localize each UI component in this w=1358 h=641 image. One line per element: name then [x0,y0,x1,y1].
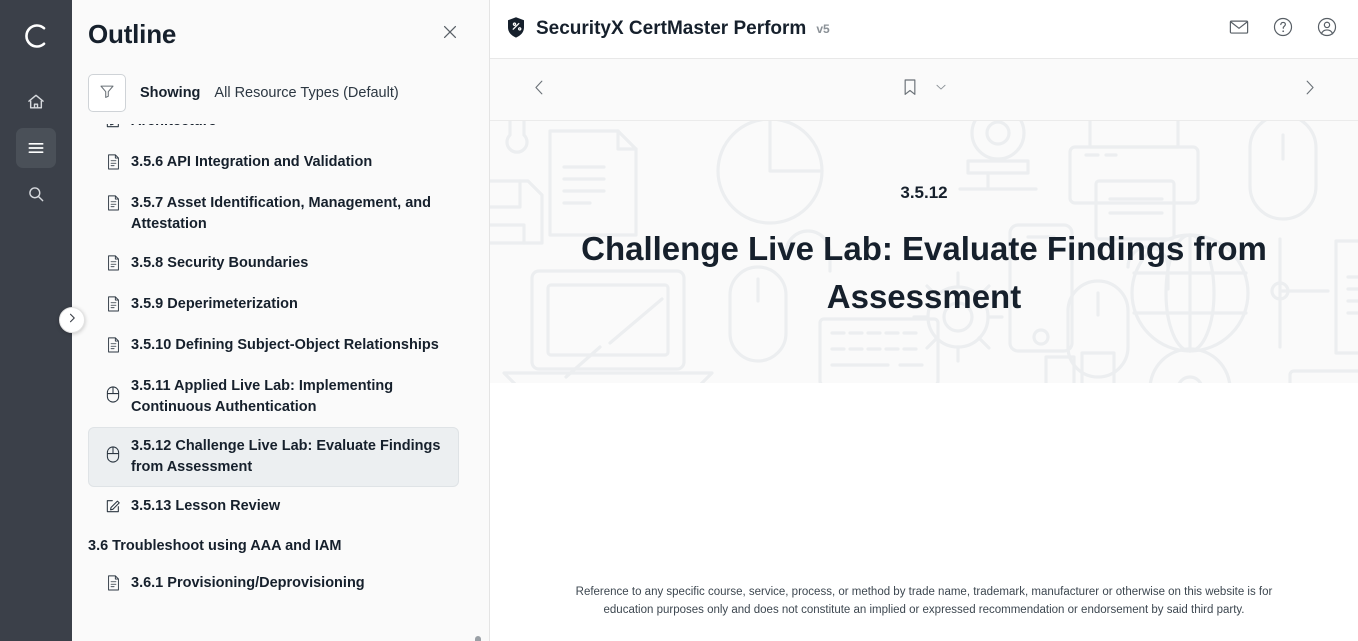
lesson-number: 3.5.12 [544,183,1304,203]
brand-version-badge: v5 [816,22,829,36]
outline-item-icon [105,496,121,519]
chevron-right-icon [66,311,78,329]
mail-button[interactable] [1226,16,1252,42]
filter-icon [98,82,116,105]
outline-item-icon [105,294,121,317]
outline-item-label: 3.5.11 Applied Live Lab: Implementing Co… [131,376,448,418]
outline-item[interactable]: 3.5.8 Security Boundaries [88,244,459,285]
document-icon [106,296,121,317]
outline-item-icon [105,335,121,358]
hero-text: 3.5.12 Challenge Live Lab: Evaluate Find… [498,183,1350,321]
outline-item-icon [105,386,121,408]
outline-item-label: Architecture [131,124,216,132]
help-circle-icon [1272,16,1294,43]
outline-item[interactable]: 3.6.1 Provisioning/Deprovisioning [88,564,459,605]
outline-item-label: 3.5.10 Defining Subject-Object Relations… [131,335,439,356]
rail-item-outline[interactable] [16,128,56,168]
outline-item[interactable]: Architecture [88,124,459,143]
outline-item-icon [105,446,121,468]
rail-icon-list [16,82,56,214]
outline-scrollbar-track[interactable] [475,230,481,641]
outline-item[interactable]: 3.5.6 API Integration and Validation [88,143,459,184]
document-icon [106,337,121,358]
rail-item-search[interactable] [16,174,56,214]
document-icon [106,154,121,175]
filter-button[interactable] [88,74,126,112]
bookmark-menu-button[interactable] [934,80,948,99]
account-icon [1316,16,1338,43]
outline-panel: Outline Showing All Resource Types (Defa… [72,0,490,641]
top-bar: SecurityX CertMaster Perform v5 [490,0,1358,59]
outline-group-header[interactable]: 3.6 Troubleshoot using AAA and IAM [88,528,459,564]
outline-item-label: 3.6.1 Provisioning/Deprovisioning [131,573,365,594]
outline-item[interactable]: 3.5.9 Deperimeterization [88,285,459,326]
outline-item-icon [105,573,121,596]
brand: SecurityX CertMaster Perform v5 [506,16,830,43]
content-navbar [490,59,1358,121]
outline-list: Architecture3.5.6 API Integration and Va… [72,124,489,641]
app-root: Outline Showing All Resource Types (Defa… [0,0,1358,641]
outline-item-icon [105,253,121,276]
document-icon [106,255,121,276]
main-area: SecurityX CertMaster Perform v5 [490,0,1358,641]
outline-item-label: 3.5.7 Asset Identification, Management, … [131,193,448,235]
mouse-icon [106,446,120,468]
previous-page-button[interactable] [524,75,554,105]
disclaimer-text: Reference to any specific course, servic… [554,583,1294,619]
outline-item-label: 3.5.9 Deperimeterization [131,294,298,315]
outline-item[interactable]: 3.5.11 Applied Live Lab: Implementing Co… [88,367,459,427]
chevron-down-icon [934,81,948,98]
outline-item[interactable]: 3.5.13 Lesson Review [88,487,459,528]
sidebar-expand-toggle[interactable] [59,307,85,333]
brand-name: SecurityX CertMaster Perform [536,18,806,40]
rail-item-home[interactable] [16,82,56,122]
home-icon [26,92,46,112]
close-icon [440,22,460,47]
outline-item-icon [105,152,121,175]
outline-item-selected[interactable]: 3.5.12 Challenge Live Lab: Evaluate Find… [88,427,459,487]
lesson-title: Challenge Live Lab: Evaluate Findings fr… [544,225,1304,321]
content-body [490,383,1358,583]
search-icon [26,184,46,204]
outline-item-icon [105,193,121,216]
content-region: 3.5.12 Challenge Live Lab: Evaluate Find… [490,121,1358,641]
next-page-button[interactable] [1294,75,1324,105]
filter-row: Showing All Resource Types (Default) [72,68,489,124]
top-bar-icons [1226,16,1340,42]
pencil-square-icon [105,498,121,519]
app-logo[interactable] [12,12,60,60]
mouse-icon [106,386,120,408]
disclaimer-footer: Reference to any specific course, servic… [490,583,1358,641]
outline-item-label: 3.5.13 Lesson Review [131,496,280,517]
lesson-hero-banner: 3.5.12 Challenge Live Lab: Evaluate Find… [490,121,1358,383]
mail-icon [1228,16,1250,43]
outline-item-label: 3.5.12 Challenge Live Lab: Evaluate Find… [131,436,448,478]
outline-menu-icon [26,138,46,158]
outline-scrollbar-thumb[interactable] [475,636,481,641]
pencil-square-icon [105,124,121,134]
outline-item[interactable]: 3.5.10 Defining Subject-Object Relations… [88,326,459,367]
showing-value[interactable]: All Resource Types (Default) [214,85,398,101]
chevron-left-icon [530,78,549,102]
document-icon [106,575,121,596]
help-button[interactable] [1270,16,1296,42]
bookmark-icon [900,85,920,102]
outline-item-label: 3.5.8 Security Boundaries [131,253,308,274]
outline-header: Outline [72,0,489,68]
chevron-right-icon [1300,78,1319,102]
account-button[interactable] [1314,16,1340,42]
outline-list-inner: Architecture3.5.6 API Integration and Va… [88,124,459,605]
bookmark-button[interactable] [900,76,920,103]
outline-item-label: 3.5.6 API Integration and Validation [131,152,372,173]
page-title: Outline [88,19,176,50]
outline-item-icon [105,124,121,134]
close-outline-button[interactable] [437,21,463,47]
shield-icon [506,16,526,43]
outline-item[interactable]: 3.5.7 Asset Identification, Management, … [88,184,459,244]
document-icon [106,195,121,216]
showing-label: Showing [140,85,200,101]
bookmark-controls [879,76,969,103]
